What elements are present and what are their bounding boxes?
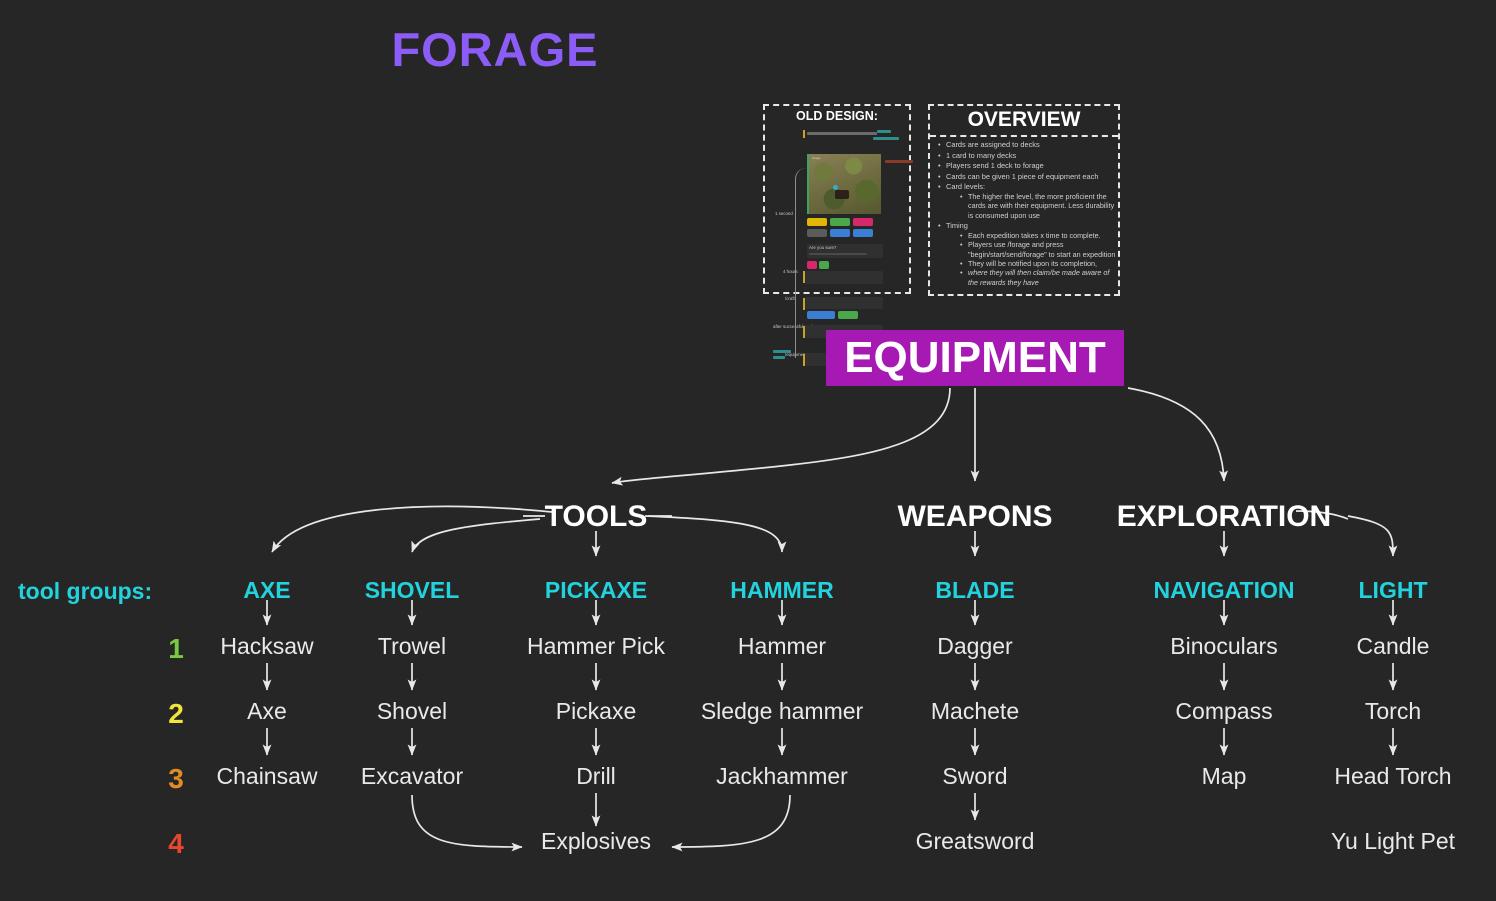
overview-bullet: Cards can be given 1 piece of equipment … [938, 172, 1116, 182]
overview-heading: OVERVIEW [930, 106, 1118, 137]
item-pickaxe-l1[interactable]: Hammer Pick [527, 633, 665, 660]
overview-sub-list: The higher the level, the more proficien… [946, 192, 1116, 220]
item-axe-l3[interactable]: Chainsaw [217, 763, 318, 790]
item-blade-l4[interactable]: Greatsword [916, 828, 1035, 855]
item-light-l1[interactable]: Candle [1357, 633, 1430, 660]
overview-bullet-text: 1 card to many decks [946, 151, 1016, 160]
page-title: FORAGE [0, 22, 1496, 77]
equipment-node[interactable]: EQUIPMENT [826, 330, 1124, 386]
group-navigation[interactable]: NAVIGATION [1154, 577, 1295, 604]
item-blade-l3[interactable]: Sword [942, 763, 1007, 790]
item-light-l3[interactable]: Head Torch [1334, 763, 1451, 790]
overview-bullet-text: Card levels: [946, 182, 985, 191]
page-title-text: FORAGE [391, 22, 598, 77]
tool-groups-label: tool groups: [18, 578, 152, 605]
old-design-mockup: forage Are you sure? 1 second 4 hours /c… [773, 128, 901, 286]
group-blade[interactable]: BLADE [935, 577, 1014, 604]
item-hammer-l1[interactable]: Hammer [738, 633, 826, 660]
item-shovel-l3[interactable]: Excavator [361, 763, 463, 790]
category-weapons[interactable]: WEAPONS [897, 500, 1052, 534]
overview-bullet: Card levels:The higher the level, the mo… [938, 182, 1116, 220]
item-blade-l2[interactable]: Machete [931, 698, 1019, 725]
diagram-canvas: FORAGE OLD DESIGN: forage Are you sure? [0, 0, 1496, 901]
overview-bullet-text: Timing [946, 221, 968, 230]
overview-bullet-text: Players send 1 deck to forage [946, 161, 1044, 170]
mock-map-tag: forage [812, 156, 821, 160]
group-pickaxe[interactable]: PICKAXE [545, 577, 647, 604]
category-exploration[interactable]: EXPLORATION [1117, 500, 1331, 534]
overview-sub-bullet: where they will then claim/be made aware… [960, 268, 1116, 287]
level-number-2: 2 [160, 698, 192, 730]
item-axe-l2[interactable]: Axe [247, 698, 287, 725]
overview-sub-list: Each expedition takes x time to complete… [946, 231, 1116, 287]
overview-panel: OVERVIEW Cards are assigned to decks1 ca… [928, 104, 1120, 296]
overview-bullet: TimingEach expedition takes x time to co… [938, 221, 1116, 287]
overview-sub-bullet: They will be notified upon its completio… [960, 259, 1116, 268]
equipment-label: EQUIPMENT [844, 333, 1106, 383]
overview-sub-bullet: Players use /forage and press "begin/sta… [960, 240, 1116, 259]
mock-label-1s: 1 second [775, 211, 793, 216]
item-navigation-l3[interactable]: Map [1202, 763, 1247, 790]
overview-bullet-list: Cards are assigned to decks1 card to man… [930, 140, 1118, 287]
overview-bullet-text: Cards are assigned to decks [946, 140, 1040, 149]
category-tools[interactable]: TOOLS [545, 500, 648, 534]
item-light-l2[interactable]: Torch [1365, 698, 1421, 725]
overview-bullet: Cards are assigned to decks [938, 140, 1116, 150]
overview-bullet: Players send 1 deck to forage [938, 161, 1116, 171]
group-hammer[interactable]: HAMMER [730, 577, 834, 604]
item-shovel-l2[interactable]: Shovel [377, 698, 447, 725]
item-explosives[interactable]: Explosives [541, 828, 651, 855]
old-design-heading: OLD DESIGN: [765, 106, 909, 125]
mock-label-craft: /craft [785, 296, 795, 301]
mock-label-confirm: Are you sure? [809, 245, 836, 250]
old-design-panel: OLD DESIGN: forage Are you sure? [763, 104, 911, 294]
item-hammer-l2[interactable]: Sledge hammer [701, 698, 863, 725]
level-number-3: 3 [160, 763, 192, 795]
group-light[interactable]: LIGHT [1359, 577, 1428, 604]
overview-bullet-text: Cards can be given 1 piece of equipment … [946, 172, 1098, 181]
item-pickaxe-l2[interactable]: Pickaxe [556, 698, 637, 725]
overview-sub-bullet: Each expedition takes x time to complete… [960, 231, 1116, 240]
item-pickaxe-l3[interactable]: Drill [576, 763, 616, 790]
group-axe[interactable]: AXE [243, 577, 290, 604]
item-light-l4[interactable]: Yu Light Pet [1331, 828, 1455, 855]
overview-sub-bullet: The higher the level, the more proficien… [960, 192, 1116, 220]
group-shovel[interactable]: SHOVEL [365, 577, 460, 604]
mock-map-image: forage [807, 154, 881, 214]
item-axe-l1[interactable]: Hacksaw [220, 633, 313, 660]
overview-bullet: 1 card to many decks [938, 151, 1116, 161]
item-hammer-l3[interactable]: Jackhammer [716, 763, 848, 790]
level-number-1: 1 [160, 633, 192, 665]
item-navigation-l2[interactable]: Compass [1175, 698, 1272, 725]
item-shovel-l1[interactable]: Trowel [378, 633, 446, 660]
level-number-4: 4 [160, 828, 192, 860]
item-blade-l1[interactable]: Dagger [937, 633, 1012, 660]
item-navigation-l1[interactable]: Binoculars [1170, 633, 1277, 660]
